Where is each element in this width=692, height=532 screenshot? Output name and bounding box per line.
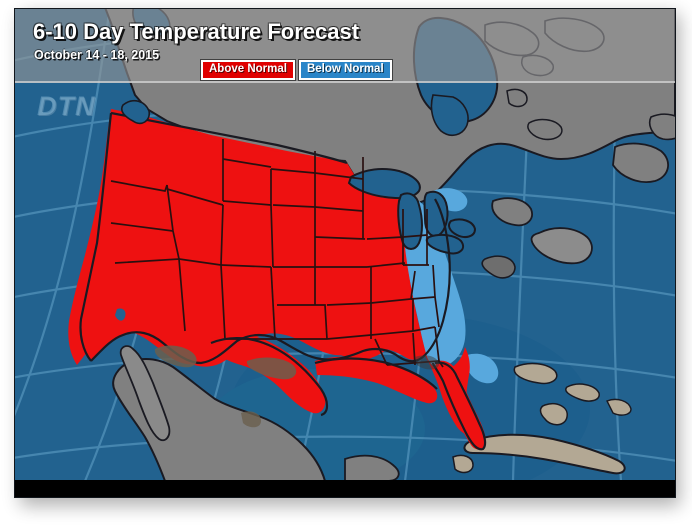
page-title: 6-10 Day Temperature Forecast	[33, 19, 359, 45]
forecast-map-panel: 6-10 Day Temperature Forecast October 14…	[14, 8, 676, 498]
lake-huron	[425, 192, 448, 236]
panel-bottom-band	[15, 480, 675, 497]
lake-michigan	[398, 193, 422, 249]
screenshot-root: 6-10 Day Temperature Forecast October 14…	[0, 0, 692, 532]
legend-item-below-normal[interactable]: Below Normal	[299, 60, 392, 80]
arctic-island-4	[507, 89, 527, 106]
legend-item-above-normal[interactable]: Above Normal	[201, 60, 295, 80]
forecast-date-range: October 14 - 18, 2015	[34, 48, 159, 62]
isla-juventud	[453, 455, 473, 472]
legend: Above Normal Below Normal	[201, 60, 392, 80]
